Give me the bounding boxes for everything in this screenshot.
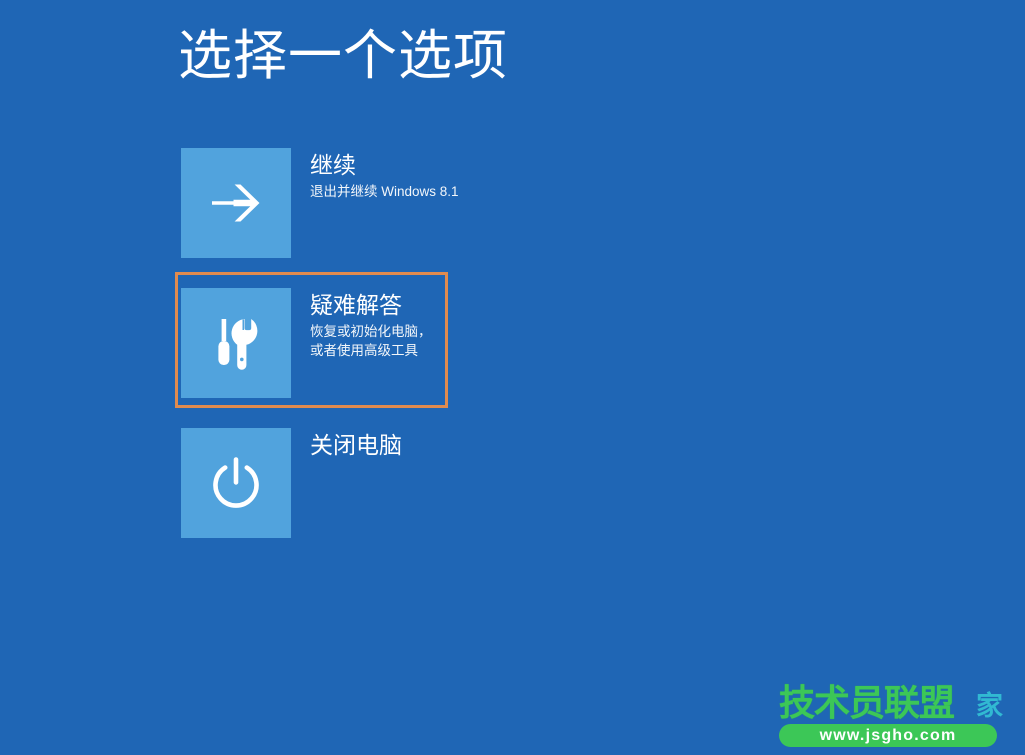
page-title: 选择一个选项 (178, 22, 508, 90)
option-continue-tile[interactable] (181, 148, 291, 258)
option-troubleshoot[interactable]: 疑难解答 恢复或初始化电脑， 或者使用高级工具 (181, 288, 432, 398)
option-continue-text: 继续 退出并继续 Windows 8.1 (310, 148, 459, 201)
screwdriver-wrench-icon (206, 313, 266, 373)
watermark-url-pill: www.jsgho.com (779, 724, 997, 747)
option-turn-off-pc-text: 关闭电脑 (310, 428, 402, 460)
option-turn-off-pc-tile[interactable] (181, 428, 291, 538)
power-icon (205, 452, 267, 514)
watermark-brand: 技术员联盟 (779, 683, 954, 723)
option-continue-title: 继续 (310, 150, 459, 180)
watermark-ghost-char: 家 (976, 691, 1003, 721)
option-troubleshoot-subtitle-line1: 恢复或初始化电脑， (310, 322, 432, 341)
option-troubleshoot-text: 疑难解答 恢复或初始化电脑， 或者使用高级工具 (310, 288, 432, 360)
option-continue-subtitle: 退出并继续 Windows 8.1 (310, 182, 459, 201)
option-turn-off-pc-title: 关闭电脑 (310, 430, 402, 460)
option-continue[interactable]: 继续 退出并继续 Windows 8.1 (181, 148, 459, 258)
watermark-url: www.jsgho.com (820, 724, 957, 747)
option-troubleshoot-tile[interactable] (181, 288, 291, 398)
arrow-right-icon (204, 171, 268, 235)
watermark: 家 技术员联盟 www.jsgho.com (771, 683, 1011, 749)
option-troubleshoot-title: 疑难解答 (310, 290, 432, 320)
option-turn-off-pc[interactable]: 关闭电脑 (181, 428, 402, 538)
option-troubleshoot-subtitle-line2: 或者使用高级工具 (310, 341, 432, 360)
